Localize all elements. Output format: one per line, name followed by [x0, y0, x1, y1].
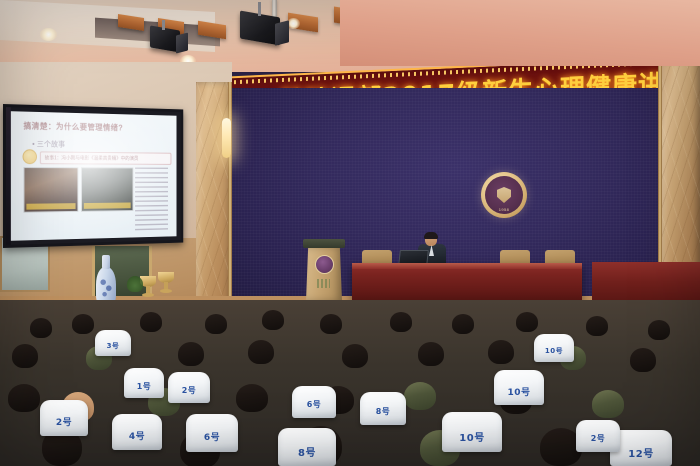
audience-head: [592, 390, 624, 418]
seat-cover: 2号: [40, 400, 88, 436]
gold-goblet: [158, 272, 174, 294]
seat-number: 2号: [576, 433, 620, 444]
seat-cover: 6号: [292, 386, 336, 418]
seat-cover: 8号: [360, 392, 406, 425]
slide-text-column: [135, 167, 168, 231]
photo-caption-bar: [84, 202, 131, 208]
seat-cover: 4号: [112, 414, 162, 450]
seat-cover: 3号: [95, 330, 131, 356]
audience-head: [516, 312, 538, 332]
seat-number: 1号: [124, 381, 164, 392]
slide-callout: 故事1：冯小刚与电影《温柔高贵桶》中的演员: [40, 151, 172, 164]
audience-head: [488, 340, 514, 364]
audience-head: [262, 310, 284, 330]
seat-number: 3号: [95, 341, 131, 351]
audience-head: [72, 314, 94, 334]
emoji-icon: [23, 149, 37, 164]
audience-head: [12, 344, 38, 368]
ceiling-downlight: [40, 28, 57, 41]
seat-number: 6号: [186, 430, 238, 443]
photo-caption-bar: [26, 203, 75, 210]
slide-photo-right: [81, 167, 133, 211]
seat-cover: 2号: [168, 372, 210, 403]
audience-head: [452, 314, 474, 334]
stage-light-fixture: [240, 14, 292, 52]
column-trim: [228, 82, 232, 308]
audience-head: [8, 384, 40, 412]
seat-number: 6号: [292, 399, 336, 410]
seat-cover: 6号: [186, 414, 238, 452]
seat-number: 2号: [168, 385, 210, 396]
seat-cover: 10号: [494, 370, 544, 405]
stage-light-fixture: [150, 28, 190, 58]
slide-title: 搞清楚：为什么要管理情绪?: [24, 120, 124, 133]
projection-screen: 搞清楚：为什么要管理情绪? • 三个故事 故事1：冯小刚与电影《温柔高贵桶》中的…: [3, 104, 183, 248]
audience-head: [236, 384, 268, 412]
audience-head: [404, 382, 436, 410]
seat-cover: 2号: [576, 420, 620, 452]
seat-number: 2号: [40, 415, 88, 428]
seat-number: 10号: [442, 429, 502, 444]
seat-cover: 1号: [124, 368, 164, 398]
seat-number: 8号: [360, 406, 406, 417]
audience-head: [648, 320, 670, 340]
crest-year: 1958: [481, 207, 527, 212]
presentation-slide: 搞清楚：为什么要管理情绪? • 三个故事 故事1：冯小刚与电影《温柔高贵桶》中的…: [11, 111, 177, 241]
audience-head: [205, 314, 227, 334]
wall-sconce-light: [222, 118, 231, 158]
audience-head: [390, 312, 412, 332]
audience-head: [342, 344, 368, 368]
head-table: [352, 263, 582, 303]
crest-shield-icon: [497, 187, 511, 203]
seat-cover: 10号: [442, 412, 502, 452]
slide-bullet: • 三个故事: [32, 138, 65, 149]
seat-number: 10号: [494, 385, 544, 398]
audience-head: [630, 348, 656, 372]
upper-wall-right: [340, 0, 700, 66]
audience-head: [418, 342, 444, 366]
audience-head: [320, 314, 342, 334]
marble-column-left: [196, 82, 232, 308]
lectern: [306, 239, 342, 301]
audience-head: [140, 312, 162, 332]
lectern-crest-icon: [315, 255, 334, 274]
lectern-decal: [317, 279, 330, 288]
university-crest-icon: 1958: [481, 172, 527, 218]
slide-photo-left: [24, 167, 79, 213]
seat-cover: 8号: [278, 428, 336, 466]
audience-head: [178, 342, 204, 366]
seat-number: 8号: [278, 444, 336, 459]
audience-head: [586, 316, 608, 336]
audience-head: [30, 318, 52, 338]
seat-number: 10号: [534, 346, 574, 356]
audience-head: [248, 340, 274, 364]
potted-plant: [127, 276, 143, 292]
seat-cover: 10号: [534, 334, 574, 362]
lecture-hall-photo: 基础课部2017级新生心理健康讲座 1958 搞清楚：为什么要管理情绪? • 三…: [0, 0, 700, 466]
seat-number: 4号: [112, 429, 162, 442]
